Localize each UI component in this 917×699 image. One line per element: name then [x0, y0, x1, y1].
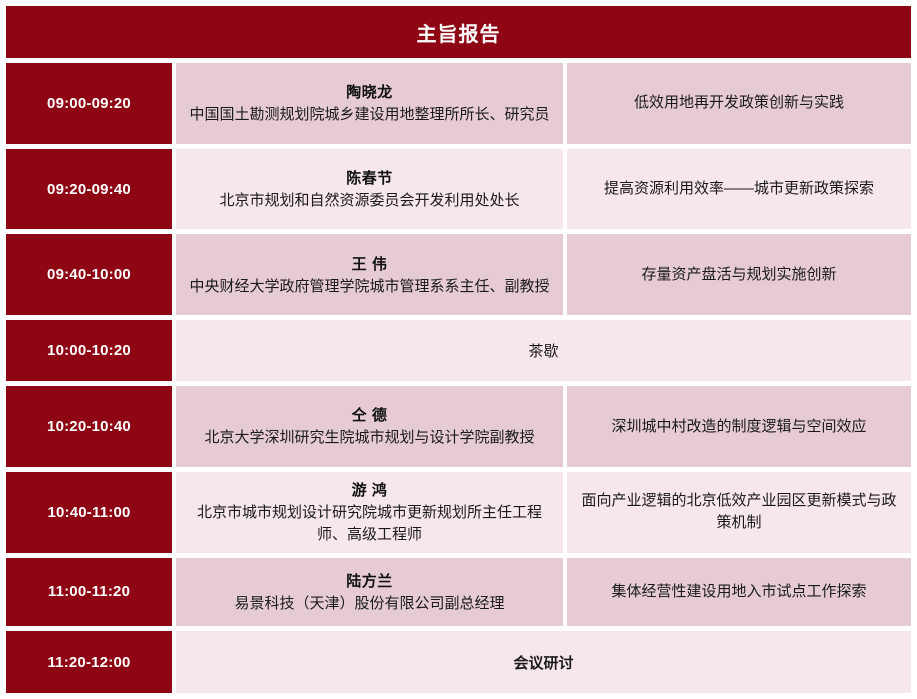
row-time: 09:00-09:20: [6, 63, 172, 144]
row-time: 10:40-11:00: [6, 472, 172, 553]
schedule-banner-title: 主旨报告: [6, 6, 911, 58]
speaker-affiliation: 北京大学深圳研究生院城市规划与设计学院副教授: [204, 427, 534, 448]
row-speaker: 游 鸿 北京市城市规划设计研究院城市更新规划所主任工程师、高级工程师: [176, 472, 563, 553]
table-row: 09:20-09:40 陈春节 北京市规划和自然资源委员会开发利用处处长 提高资…: [6, 149, 911, 230]
speaker-name: 陈春节: [346, 167, 393, 188]
table-row: 10:20-10:40 仝 德 北京大学深圳研究生院城市规划与设计学院副教授 深…: [6, 386, 911, 467]
row-time: 09:40-10:00: [6, 234, 172, 315]
speaker-affiliation: 中央财经大学政府管理学院城市管理系系主任、副教授: [189, 276, 549, 297]
row-time: 10:20-10:40: [6, 386, 172, 467]
speaker-name: 陆方兰: [346, 570, 393, 591]
speaker-name: 游 鸿: [352, 479, 388, 500]
table-row: 11:00-11:20 陆方兰 易景科技（天津）股份有限公司副总经理 集体经营性…: [6, 558, 911, 627]
speaker-name: 仝 德: [352, 404, 388, 425]
row-speaker: 陆方兰 易景科技（天津）股份有限公司副总经理: [176, 558, 563, 627]
speaker-affiliation: 易景科技（天津）股份有限公司副总经理: [234, 593, 504, 614]
table-row-discussion: 11:20-12:00 会议研讨: [6, 631, 911, 693]
speaker-affiliation: 中国国土勘测规划院城乡建设用地整理所所长、研究员: [189, 104, 549, 125]
row-speaker: 王 伟 中央财经大学政府管理学院城市管理系系主任、副教授: [176, 234, 563, 315]
row-topic: 低效用地再开发政策创新与实践: [567, 63, 911, 144]
conference-schedule-table: 主旨报告 09:00-09:20 陶晓龙 中国国土勘测规划院城乡建设用地整理所所…: [0, 0, 917, 699]
row-topic: 面向产业逻辑的北京低效产业园区更新模式与政策机制: [567, 472, 911, 553]
row-topic: 深圳城中村改造的制度逻辑与空间效应: [567, 386, 911, 467]
table-row: 10:40-11:00 游 鸿 北京市城市规划设计研究院城市更新规划所主任工程师…: [6, 472, 911, 553]
speaker-name: 王 伟: [352, 253, 388, 274]
row-speaker: 陈春节 北京市规划和自然资源委员会开发利用处处长: [176, 149, 563, 230]
speaker-affiliation: 北京市规划和自然资源委员会开发利用处处长: [219, 190, 519, 211]
row-speaker: 陶晓龙 中国国土勘测规划院城乡建设用地整理所所长、研究员: [176, 63, 563, 144]
speaker-name: 陶晓龙: [346, 81, 393, 102]
row-speaker: 仝 德 北京大学深圳研究生院城市规划与设计学院副教授: [176, 386, 563, 467]
speaker-affiliation: 北京市城市规划设计研究院城市更新规划所主任工程师、高级工程师: [186, 502, 553, 545]
row-merged-label: 茶歇: [176, 320, 911, 381]
schedule-rows: 09:00-09:20 陶晓龙 中国国土勘测规划院城乡建设用地整理所所长、研究员…: [0, 58, 917, 699]
row-time: 11:00-11:20: [6, 558, 172, 627]
table-row: 09:40-10:00 王 伟 中央财经大学政府管理学院城市管理系系主任、副教授…: [6, 234, 911, 315]
row-time: 09:20-09:40: [6, 149, 172, 230]
table-row: 09:00-09:20 陶晓龙 中国国土勘测规划院城乡建设用地整理所所长、研究员…: [6, 63, 911, 144]
row-topic: 存量资产盘活与规划实施创新: [567, 234, 911, 315]
row-merged-label: 会议研讨: [176, 631, 911, 693]
row-topic: 集体经营性建设用地入市试点工作探索: [567, 558, 911, 627]
row-time: 11:20-12:00: [6, 631, 172, 693]
row-time: 10:00-10:20: [6, 320, 172, 381]
row-topic: 提高资源利用效率——城市更新政策探索: [567, 149, 911, 230]
table-row-break: 10:00-10:20 茶歇: [6, 320, 911, 381]
